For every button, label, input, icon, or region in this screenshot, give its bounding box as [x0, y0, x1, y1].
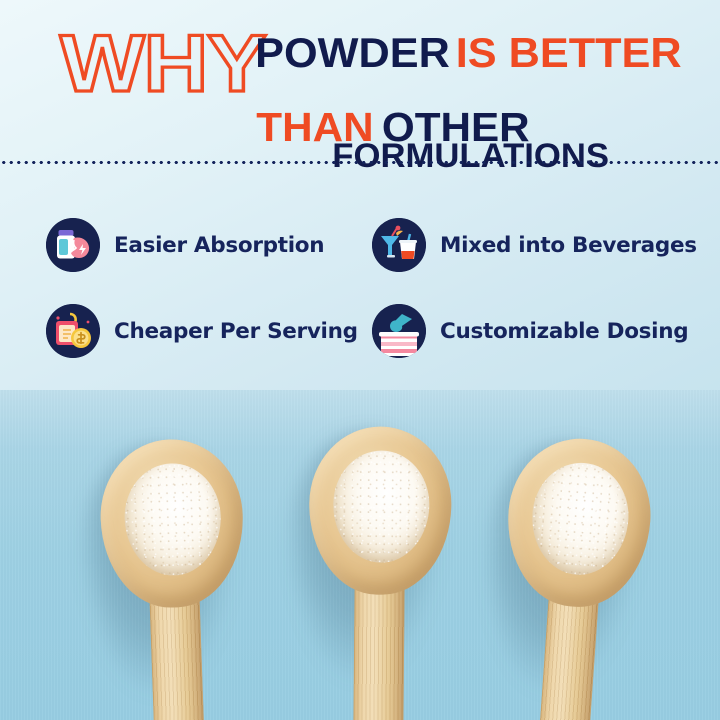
headline-word-powder: POWDER [255, 30, 450, 76]
feature-item-mixed-into-beverages: Mixed into Beverages [372, 218, 697, 272]
headline-line-1: POWDERIS BETTER [258, 30, 678, 86]
dotted-divider [0, 160, 720, 165]
scoop-container-icon [372, 304, 426, 358]
feature-label: Easier Absorption [114, 233, 324, 258]
feature-item-customizable-dosing: Customizable Dosing [372, 304, 688, 358]
features-list: Easier Absorption Mixed into Beverag [0, 208, 720, 378]
feature-item-easier-absorption: Easier Absorption [46, 218, 324, 272]
supplement-bottle-stomach-icon [46, 218, 100, 272]
infographic-root: WHY POWDERIS BETTER THANOTHER FORMULATIO… [0, 0, 720, 720]
price-tag-coin-icon [46, 304, 100, 358]
headline-why-outline: WHY [60, 24, 266, 105]
cocktail-drinks-icon [372, 218, 426, 272]
feature-item-cheaper-per-serving: Cheaper Per Serving [46, 304, 358, 358]
feature-label: Cheaper Per Serving [114, 319, 358, 344]
headline-block: WHY POWDERIS BETTER THANOTHER FORMULATIO… [0, 22, 720, 152]
powder-mound [123, 462, 223, 577]
feature-label: Mixed into Beverages [440, 233, 697, 258]
headline-word-is-better: IS BETTER [456, 30, 682, 76]
spoons-photo [0, 390, 720, 720]
headline-word-formulations: FORMULATIONS [332, 138, 609, 174]
powder-mound [333, 450, 430, 563]
feature-label: Customizable Dosing [440, 319, 688, 344]
powder-mound [528, 460, 632, 578]
